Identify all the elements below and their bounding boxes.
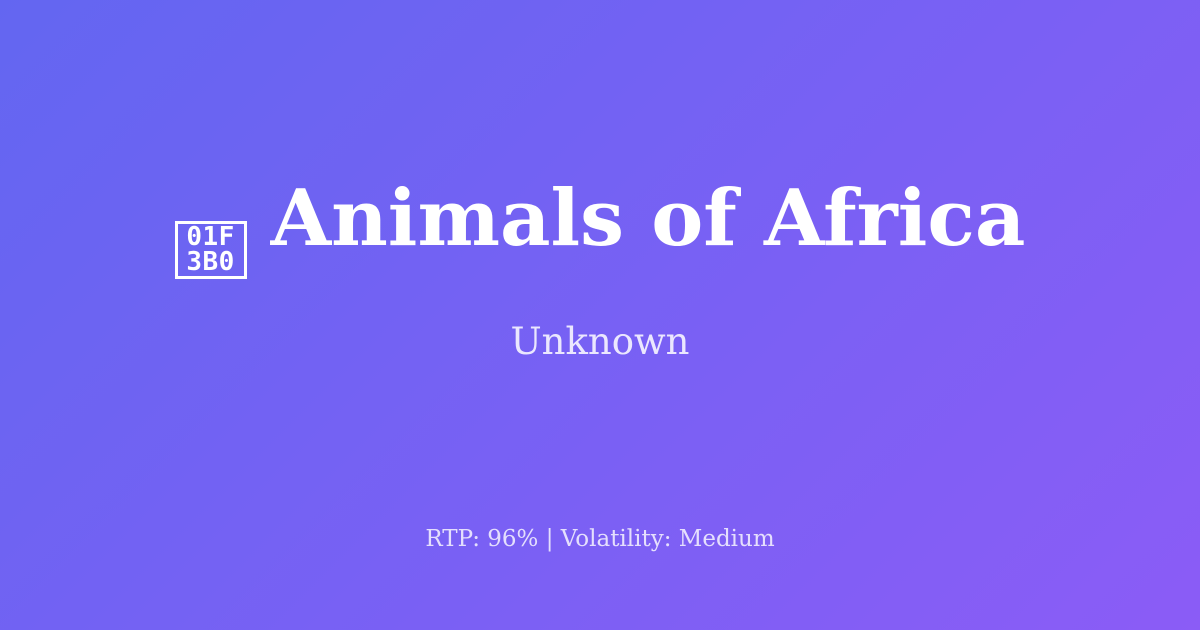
- codepoint-bottom-row: 3B0: [186, 250, 234, 275]
- provider-subtitle: Unknown: [510, 323, 689, 360]
- game-stats-line: RTP: 96% | Volatility: Medium: [0, 528, 1200, 551]
- page-title: Animals of Africa: [271, 180, 1026, 258]
- title-row: 01F 3B0 Animals of Africa: [175, 180, 1026, 279]
- slot-machine-emoji-icon: 01F 3B0: [175, 221, 247, 279]
- og-preview-card: 01F 3B0 Animals of Africa Unknown RTP: 9…: [0, 0, 1200, 630]
